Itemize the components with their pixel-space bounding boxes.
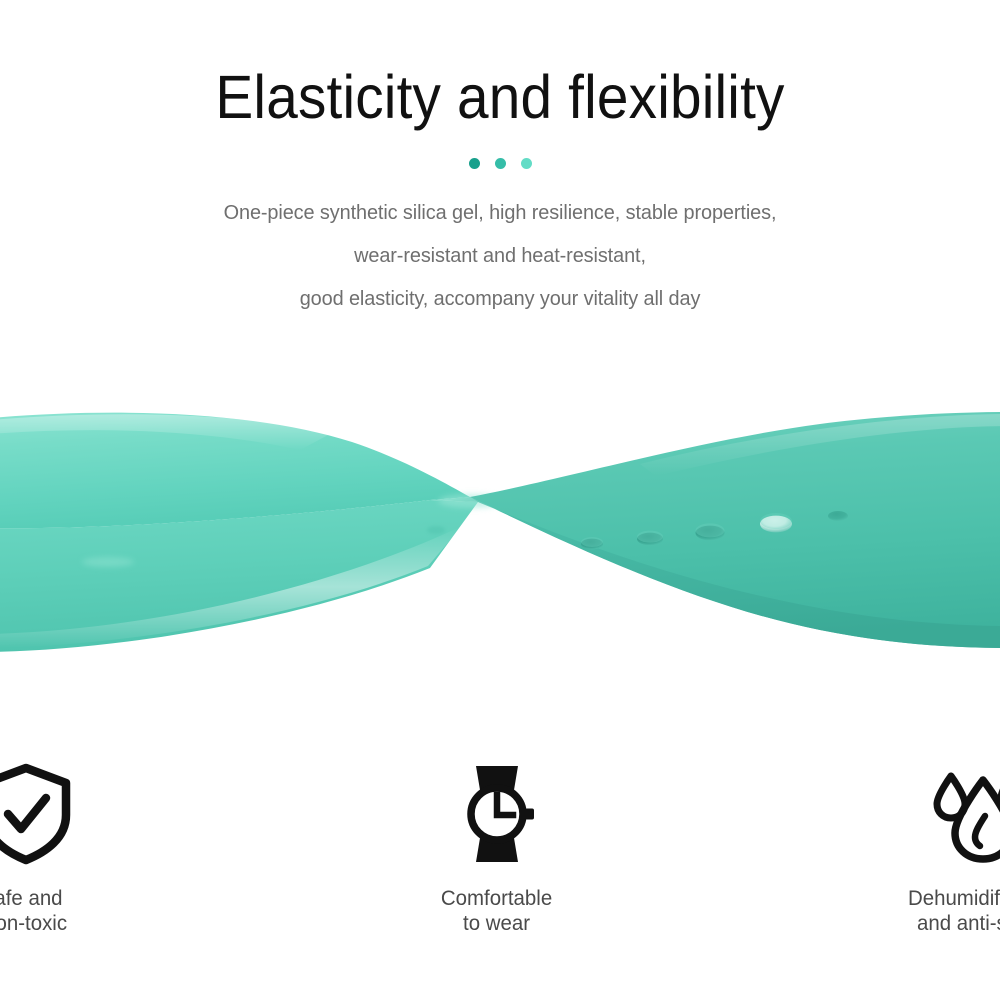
feature-dry-label-line-1: Dehumidification <box>908 886 1000 911</box>
adjustment-hole-2-rim <box>637 531 663 543</box>
feature-safe-non-toxic: safe and non-toxic <box>0 762 192 936</box>
wristwatch-icon <box>451 762 543 866</box>
adjustment-hole-3-rim <box>696 523 725 537</box>
subtitle-block: One-piece synthetic silica gel, high res… <box>15 169 985 320</box>
dot-light <box>521 158 532 169</box>
product-image <box>0 330 1000 710</box>
shield-check-icon <box>0 762 74 866</box>
adjustment-hole-1-rim <box>581 537 603 547</box>
feature-comfort-label: Comfortable to wear <box>441 886 552 936</box>
band-surface-dimple <box>427 526 445 534</box>
divider-dots <box>0 157 1000 169</box>
water-droplets-icon <box>927 762 1000 866</box>
adjustment-hole-5 <box>828 511 848 521</box>
adjustment-hole-4-rim <box>760 513 792 529</box>
feature-safe-label-line-2: non-toxic <box>0 911 67 936</box>
feature-dehumidification: Dehumidification and anti-sweat <box>817 762 1000 936</box>
feature-safe-label: safe and non-toxic <box>0 886 67 936</box>
twisted-band-illustration <box>0 330 1000 710</box>
feature-comfortable-to-wear: Comfortable to wear <box>330 762 663 936</box>
dot-dark <box>469 158 480 169</box>
dot-mid <box>495 158 506 169</box>
feature-safe-label-line-1: safe and <box>0 886 67 911</box>
subtitle-line-3: good elasticity, accompany your vitality… <box>15 277 985 320</box>
feature-comfort-label-line-1: Comfortable <box>441 886 552 911</box>
subtitle-line-2: wear-resistant and heat-resistant, <box>15 234 985 277</box>
feature-dry-label: Dehumidification and anti-sweat <box>908 886 1000 936</box>
feature-comfort-label-line-2: to wear <box>441 911 552 936</box>
band-left-reflection <box>82 557 134 567</box>
header-block: Elasticity and flexibility One-piece syn… <box>0 0 1000 320</box>
feature-row: safe and non-toxic <box>0 762 1000 936</box>
page-title: Elasticity and flexibility <box>35 0 965 132</box>
subtitle-line-1: One-piece synthetic silica gel, high res… <box>15 191 985 234</box>
marketing-banner: Elasticity and flexibility One-piece syn… <box>0 0 1000 1000</box>
feature-dry-label-line-2: and anti-sweat <box>908 911 1000 936</box>
